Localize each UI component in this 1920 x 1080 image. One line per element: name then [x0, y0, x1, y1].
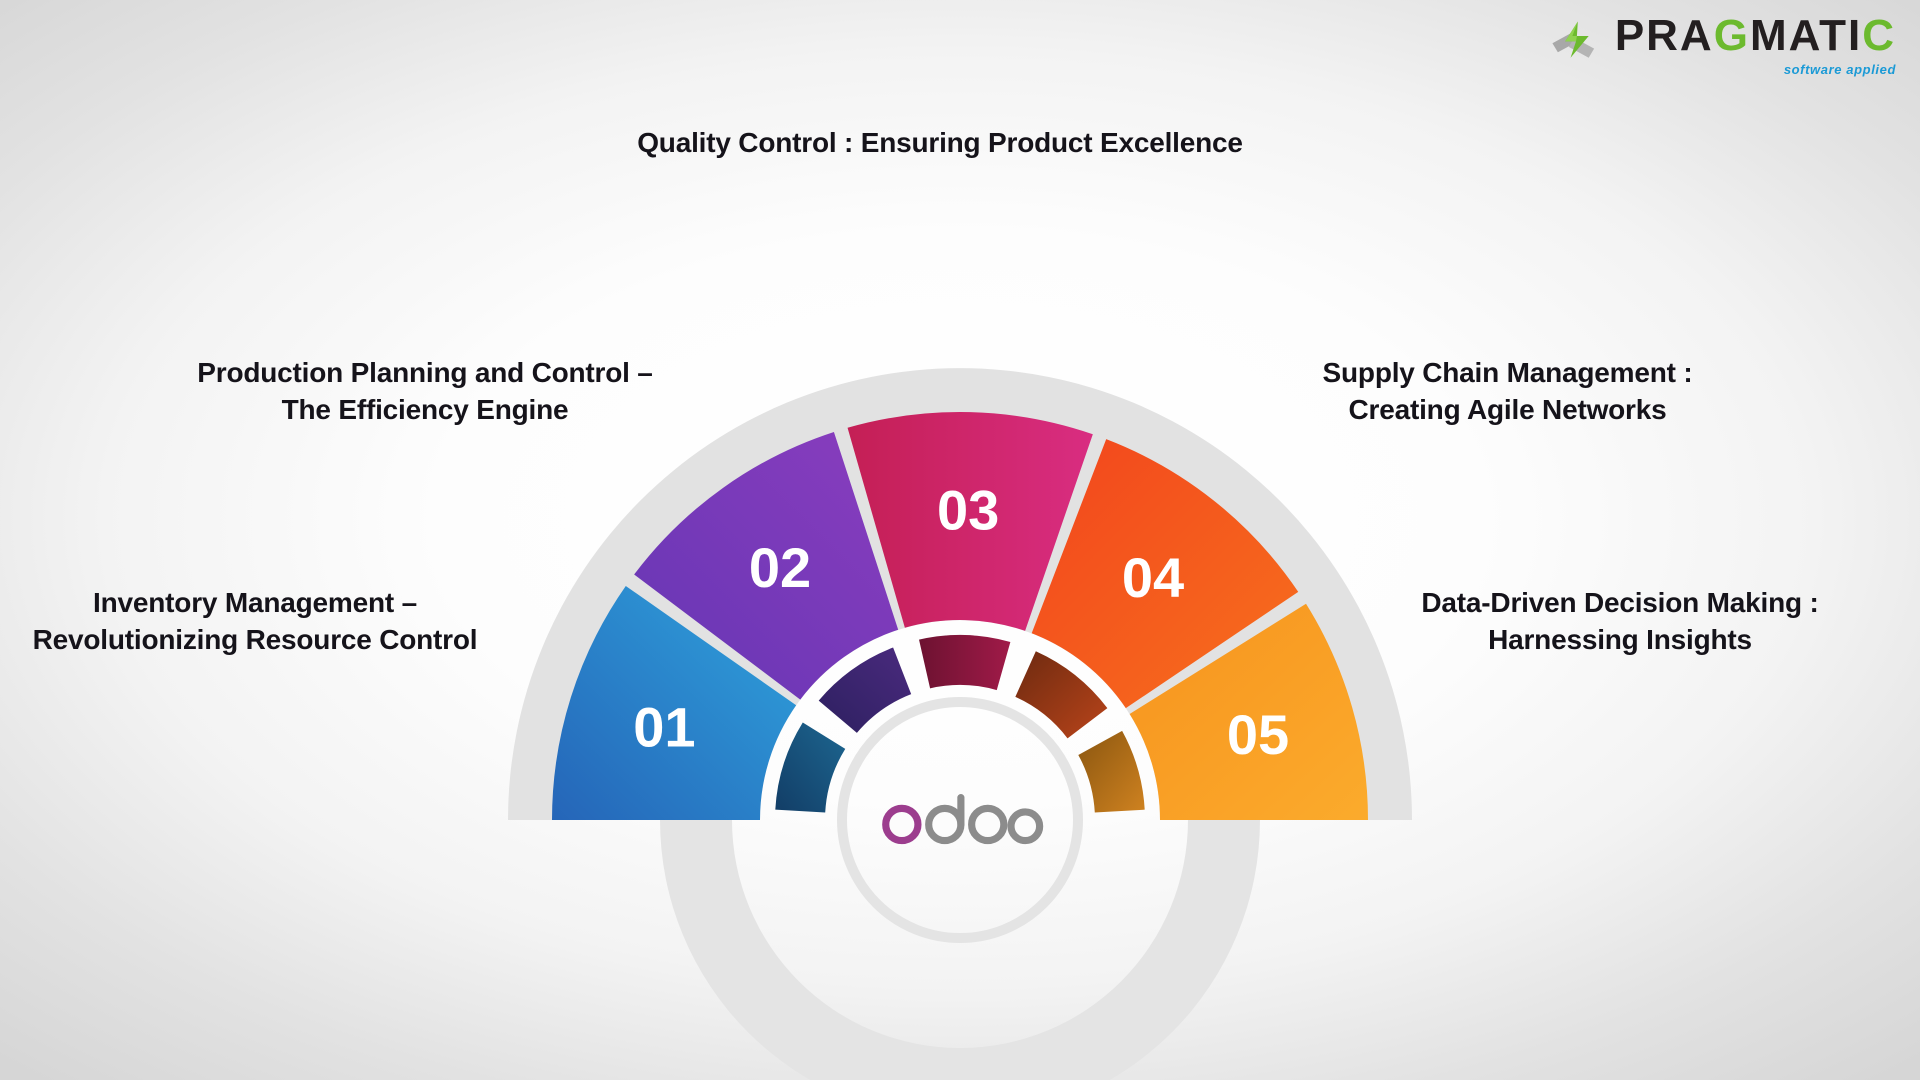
segment-number-01: 01: [633, 695, 695, 758]
callout-label-03: Quality Control : Ensuring Product Excel…: [620, 125, 1260, 162]
odoo-wordmark-icon: [875, 792, 1045, 848]
wheel-lower-ring: [660, 820, 1260, 1080]
segment-number-03: 03: [937, 479, 999, 542]
segment-number-05: 05: [1227, 703, 1289, 766]
callout-label-02: Production Planning and Control – The Ef…: [185, 355, 665, 429]
semicircle-segment-wheel: 0102030405: [0, 0, 1920, 1080]
callout-label-05: Data-Driven Decision Making : Harnessing…: [1420, 585, 1820, 659]
wheel-inner-segment-03: [919, 635, 1010, 690]
wheel-inner-segment-01: [775, 723, 845, 813]
odoo-logo: [865, 784, 1055, 856]
segment-number-04: 04: [1122, 546, 1184, 609]
callout-label-01: Inventory Management – Revolutionizing R…: [10, 585, 500, 659]
callout-label-04: Supply Chain Management : Creating Agile…: [1285, 355, 1730, 429]
segment-number-02: 02: [749, 536, 811, 599]
wheel-inner-segment-05: [1078, 731, 1144, 813]
